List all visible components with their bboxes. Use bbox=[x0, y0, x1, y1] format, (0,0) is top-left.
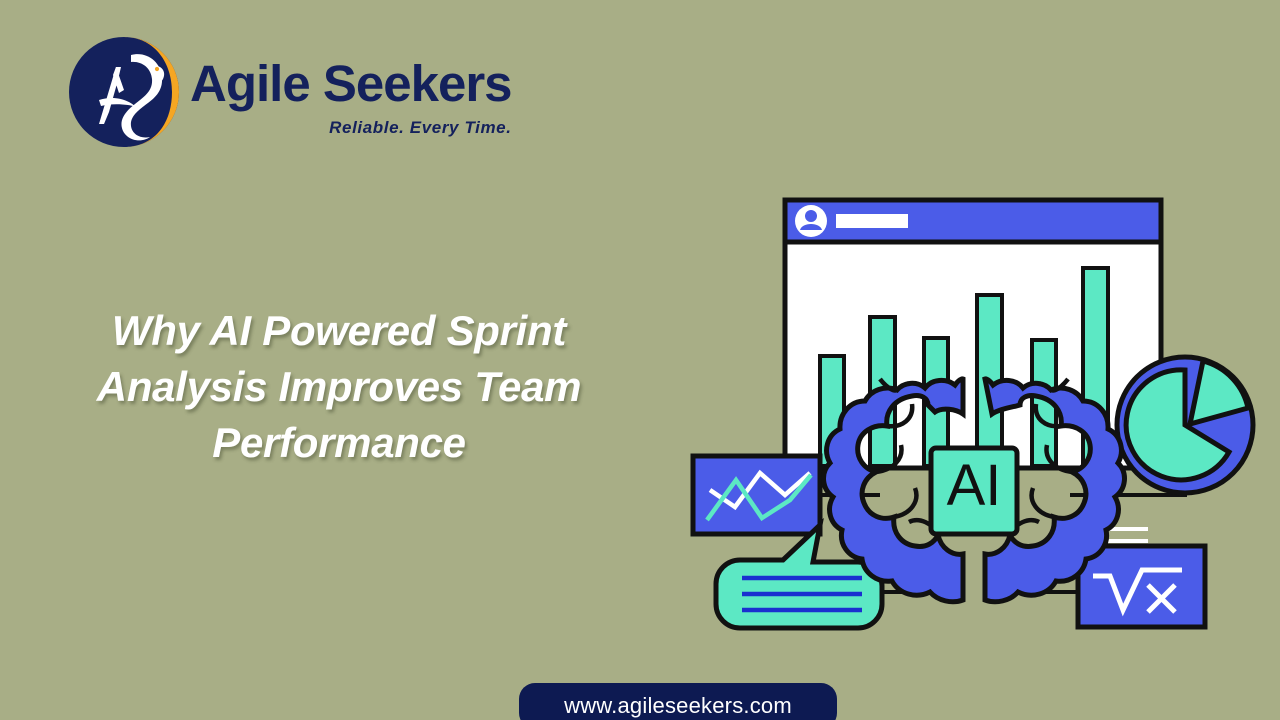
square-root-formula-card[interactable] bbox=[1078, 546, 1205, 627]
ai-badge-label: AI bbox=[947, 453, 1002, 518]
brand-logo[interactable]: Agile Seekers Reliable. Every Time. bbox=[68, 36, 512, 148]
pie-chart-icon bbox=[1117, 357, 1253, 493]
page-title: Why AI Powered Sprint Analysis Improves … bbox=[34, 303, 644, 471]
line-chart-card[interactable] bbox=[693, 456, 820, 534]
address-bar[interactable] bbox=[836, 214, 908, 228]
banner-canvas: Agile Seekers Reliable. Every Time. Why … bbox=[0, 0, 1280, 720]
agile-seekers-circle-monogram-icon bbox=[68, 36, 180, 148]
ai-badge: AI bbox=[931, 448, 1017, 534]
brand-wordmark: Agile Seekers bbox=[190, 58, 512, 109]
footer-url-text: www.agileseekers.com bbox=[564, 693, 792, 719]
brand-logo-text: Agile Seekers Reliable. Every Time. bbox=[190, 36, 512, 138]
footer-url-pill[interactable]: www.agileseekers.com bbox=[519, 683, 837, 720]
brand-tagline: Reliable. Every Time. bbox=[329, 118, 511, 138]
ai-analytics-brain-illustration: AI bbox=[680, 180, 1266, 640]
illustration-svg: AI bbox=[680, 180, 1266, 640]
user-avatar-icon bbox=[795, 205, 827, 237]
